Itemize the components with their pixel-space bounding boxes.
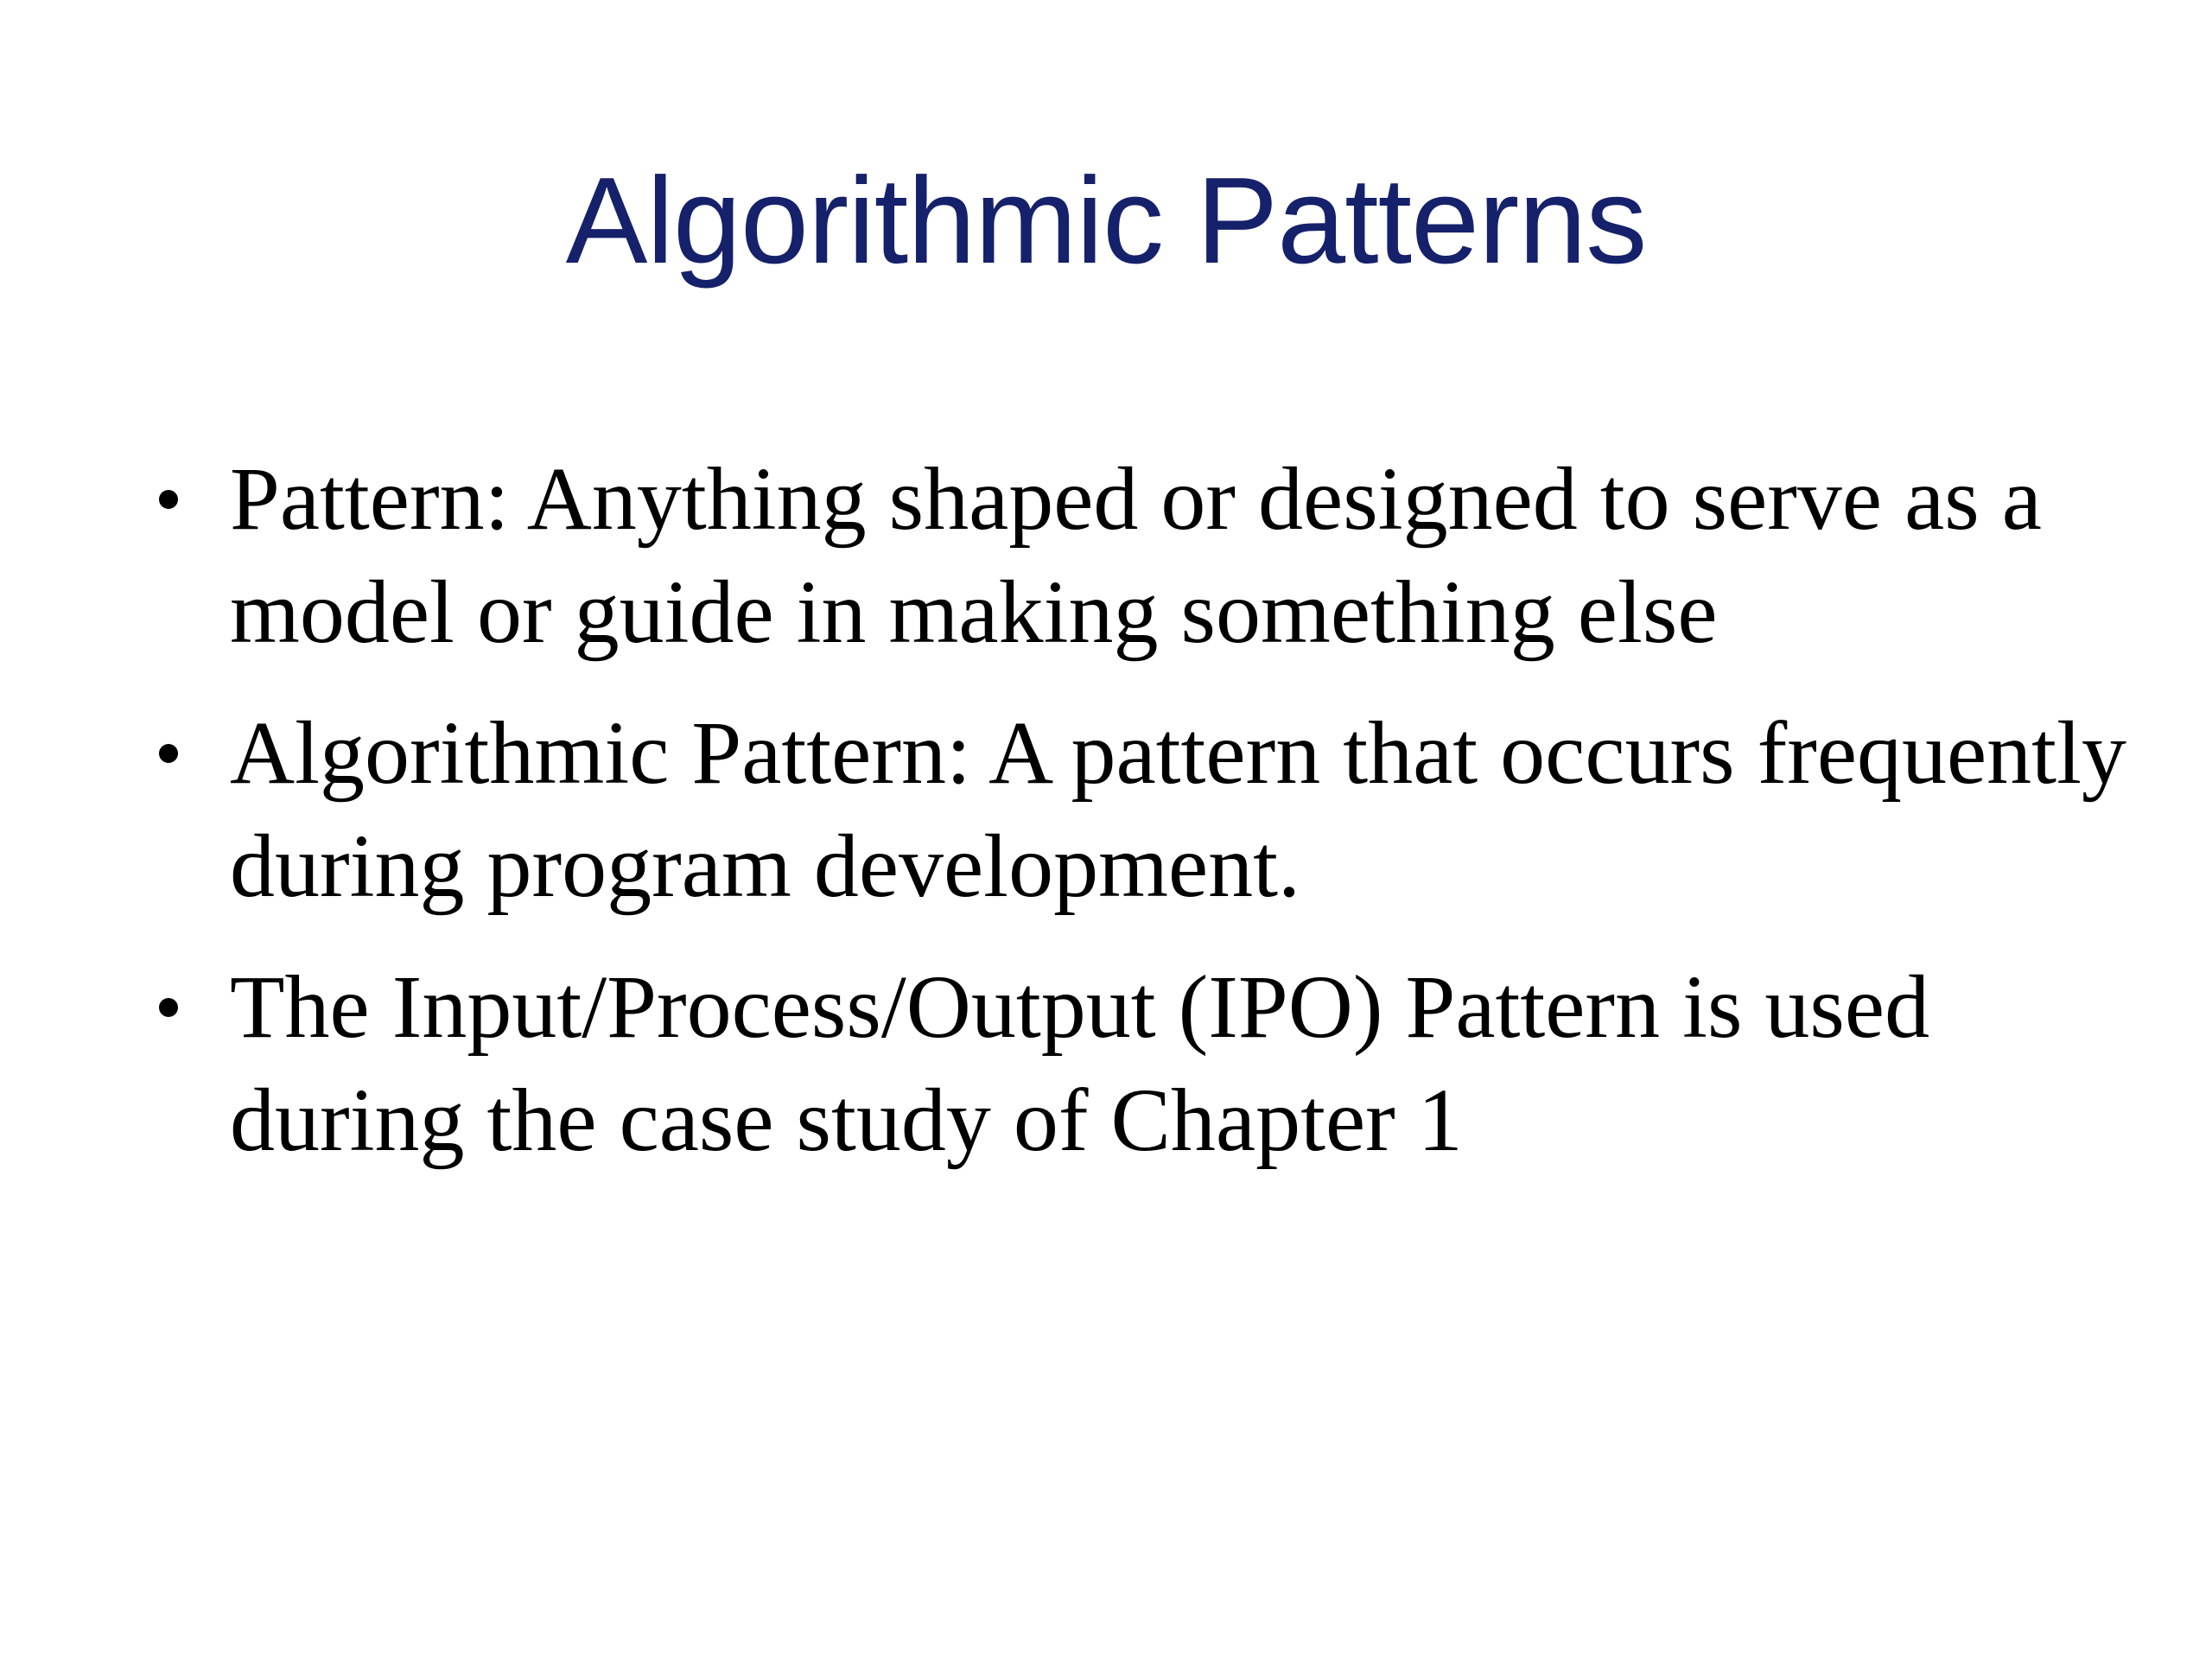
page-title: Algorithmic Patterns <box>0 160 2212 283</box>
bullet-dot-icon <box>159 950 194 1064</box>
bullet-text: The Input/Process/Output (IPO) Pattern i… <box>230 950 2141 1177</box>
bullet-list: Pattern: Anything shaped or designed to … <box>154 442 2141 1177</box>
bullet-dot-icon <box>159 696 194 810</box>
bullet-text: Algorithmic Pattern: A pattern that occu… <box>230 696 2141 923</box>
list-item: Algorithmic Pattern: A pattern that occu… <box>154 696 2141 923</box>
list-item: Pattern: Anything shaped or designed to … <box>154 442 2141 669</box>
list-item: The Input/Process/Output (IPO) Pattern i… <box>154 950 2141 1177</box>
bullet-text: Pattern: Anything shaped or designed to … <box>230 442 2141 669</box>
bullet-dot-icon <box>159 442 194 556</box>
presentation-slide: Algorithmic Patterns Pattern: Anything s… <box>0 0 2212 1659</box>
